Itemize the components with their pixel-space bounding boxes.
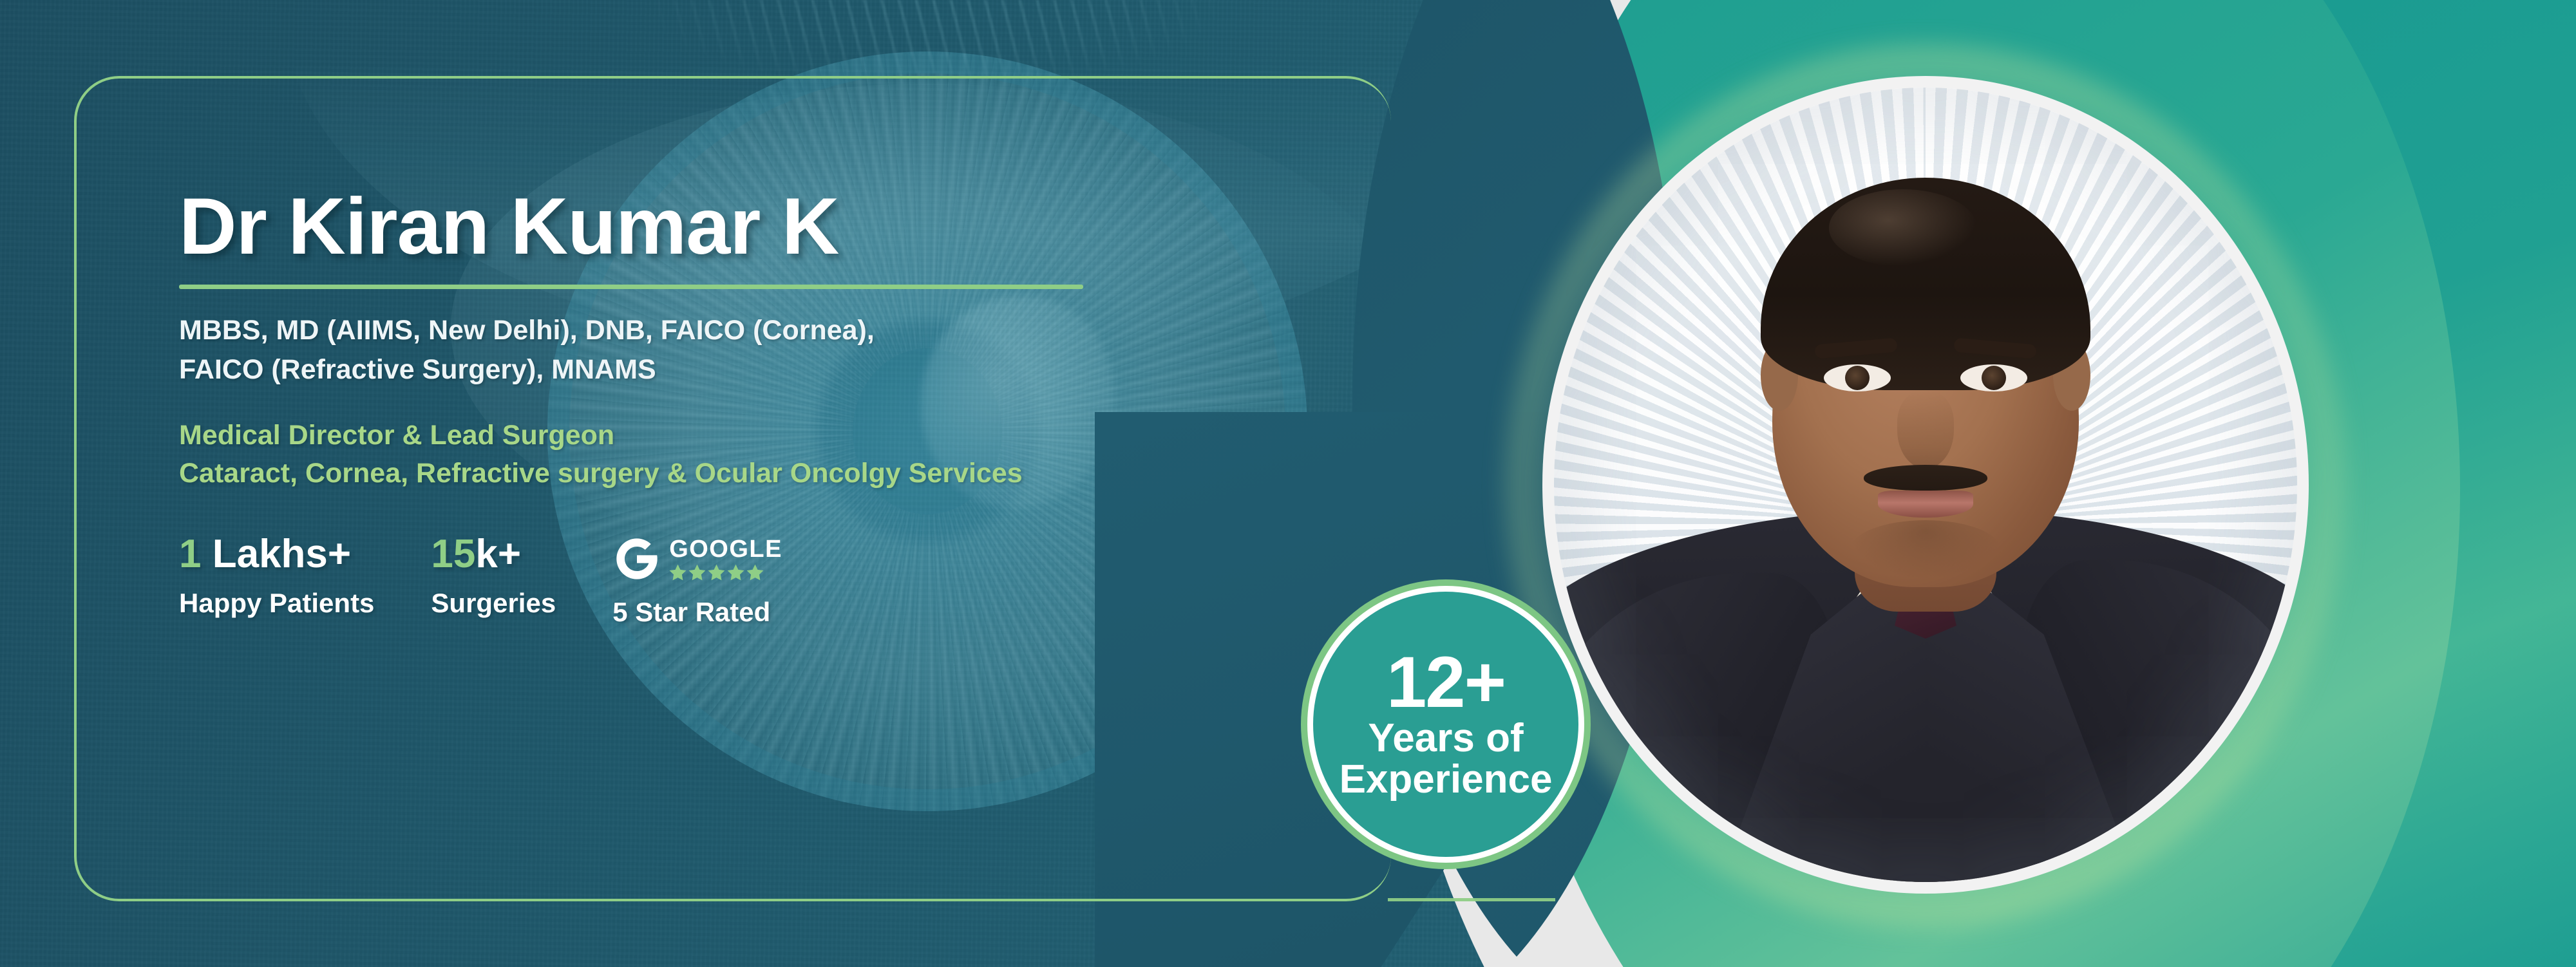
star-icon [708,564,725,581]
star-icon [688,564,706,581]
stat-value-accent: 15 [431,532,475,576]
google-text-block: GOOGLE [669,537,782,581]
stat-value: 1 Lakhs+ [179,534,374,574]
stat-happy-patients: 1 Lakhs+ Happy Patients [179,534,374,617]
stat-label: Happy Patients [179,590,374,617]
experience-label-line-2: Experience [1340,759,1553,800]
stat-google-rating: GOOGLE 5 Star Rated [612,534,782,626]
portrait-vignette [1554,88,2297,882]
credentials-line-1: MBBS, MD (AIIMS, New Delhi), DNB, FAICO … [179,311,1274,350]
star-icon [746,564,764,581]
role-line-1: Medical Director & Lead Surgeon [179,417,1274,454]
doctor-profile-banner: Dr Kiran Kumar K MBBS, MD (AIIMS, New De… [0,0,2576,967]
stat-surgeries: 15k+ Surgeries [431,534,556,617]
star-icon [669,564,687,581]
text-content-block: Dr Kiran Kumar K MBBS, MD (AIIMS, New De… [179,187,1274,626]
page-title: Dr Kiran Kumar K [179,187,1274,267]
role-line-2: Cataract, Cornea, Refractive surgery & O… [179,455,1274,492]
stat-value-rest: k+ [475,532,521,576]
credentials-line-2: FAICO (Refractive Surgery), MNAMS [179,350,1274,390]
doctor-portrait [1554,88,2297,882]
stat-label: Surgeries [431,590,556,617]
stat-value-rest: Lakhs+ [201,532,351,576]
stat-value: 15k+ [431,534,556,574]
stats-row: 1 Lakhs+ Happy Patients 15k+ Surgeries G… [179,534,1274,626]
google-word: GOOGLE [669,536,782,563]
title-underline [179,285,1083,289]
google-g-icon [612,534,661,583]
roles-block: Medical Director & Lead Surgeon Cataract… [179,417,1274,492]
star-rating [669,564,782,581]
experience-badge: 12+ Years of Experience [1307,586,1584,863]
bottom-divider-rule [1388,898,1555,901]
experience-years: 12+ [1387,649,1505,715]
star-icon [727,564,744,581]
experience-label-line-1: Years of [1368,718,1523,758]
stat-value-accent: 1 [179,532,201,576]
google-rating-row: GOOGLE [612,534,782,583]
credentials: MBBS, MD (AIIMS, New Delhi), DNB, FAICO … [179,311,1274,390]
stat-label: 5 Star Rated [612,599,782,626]
